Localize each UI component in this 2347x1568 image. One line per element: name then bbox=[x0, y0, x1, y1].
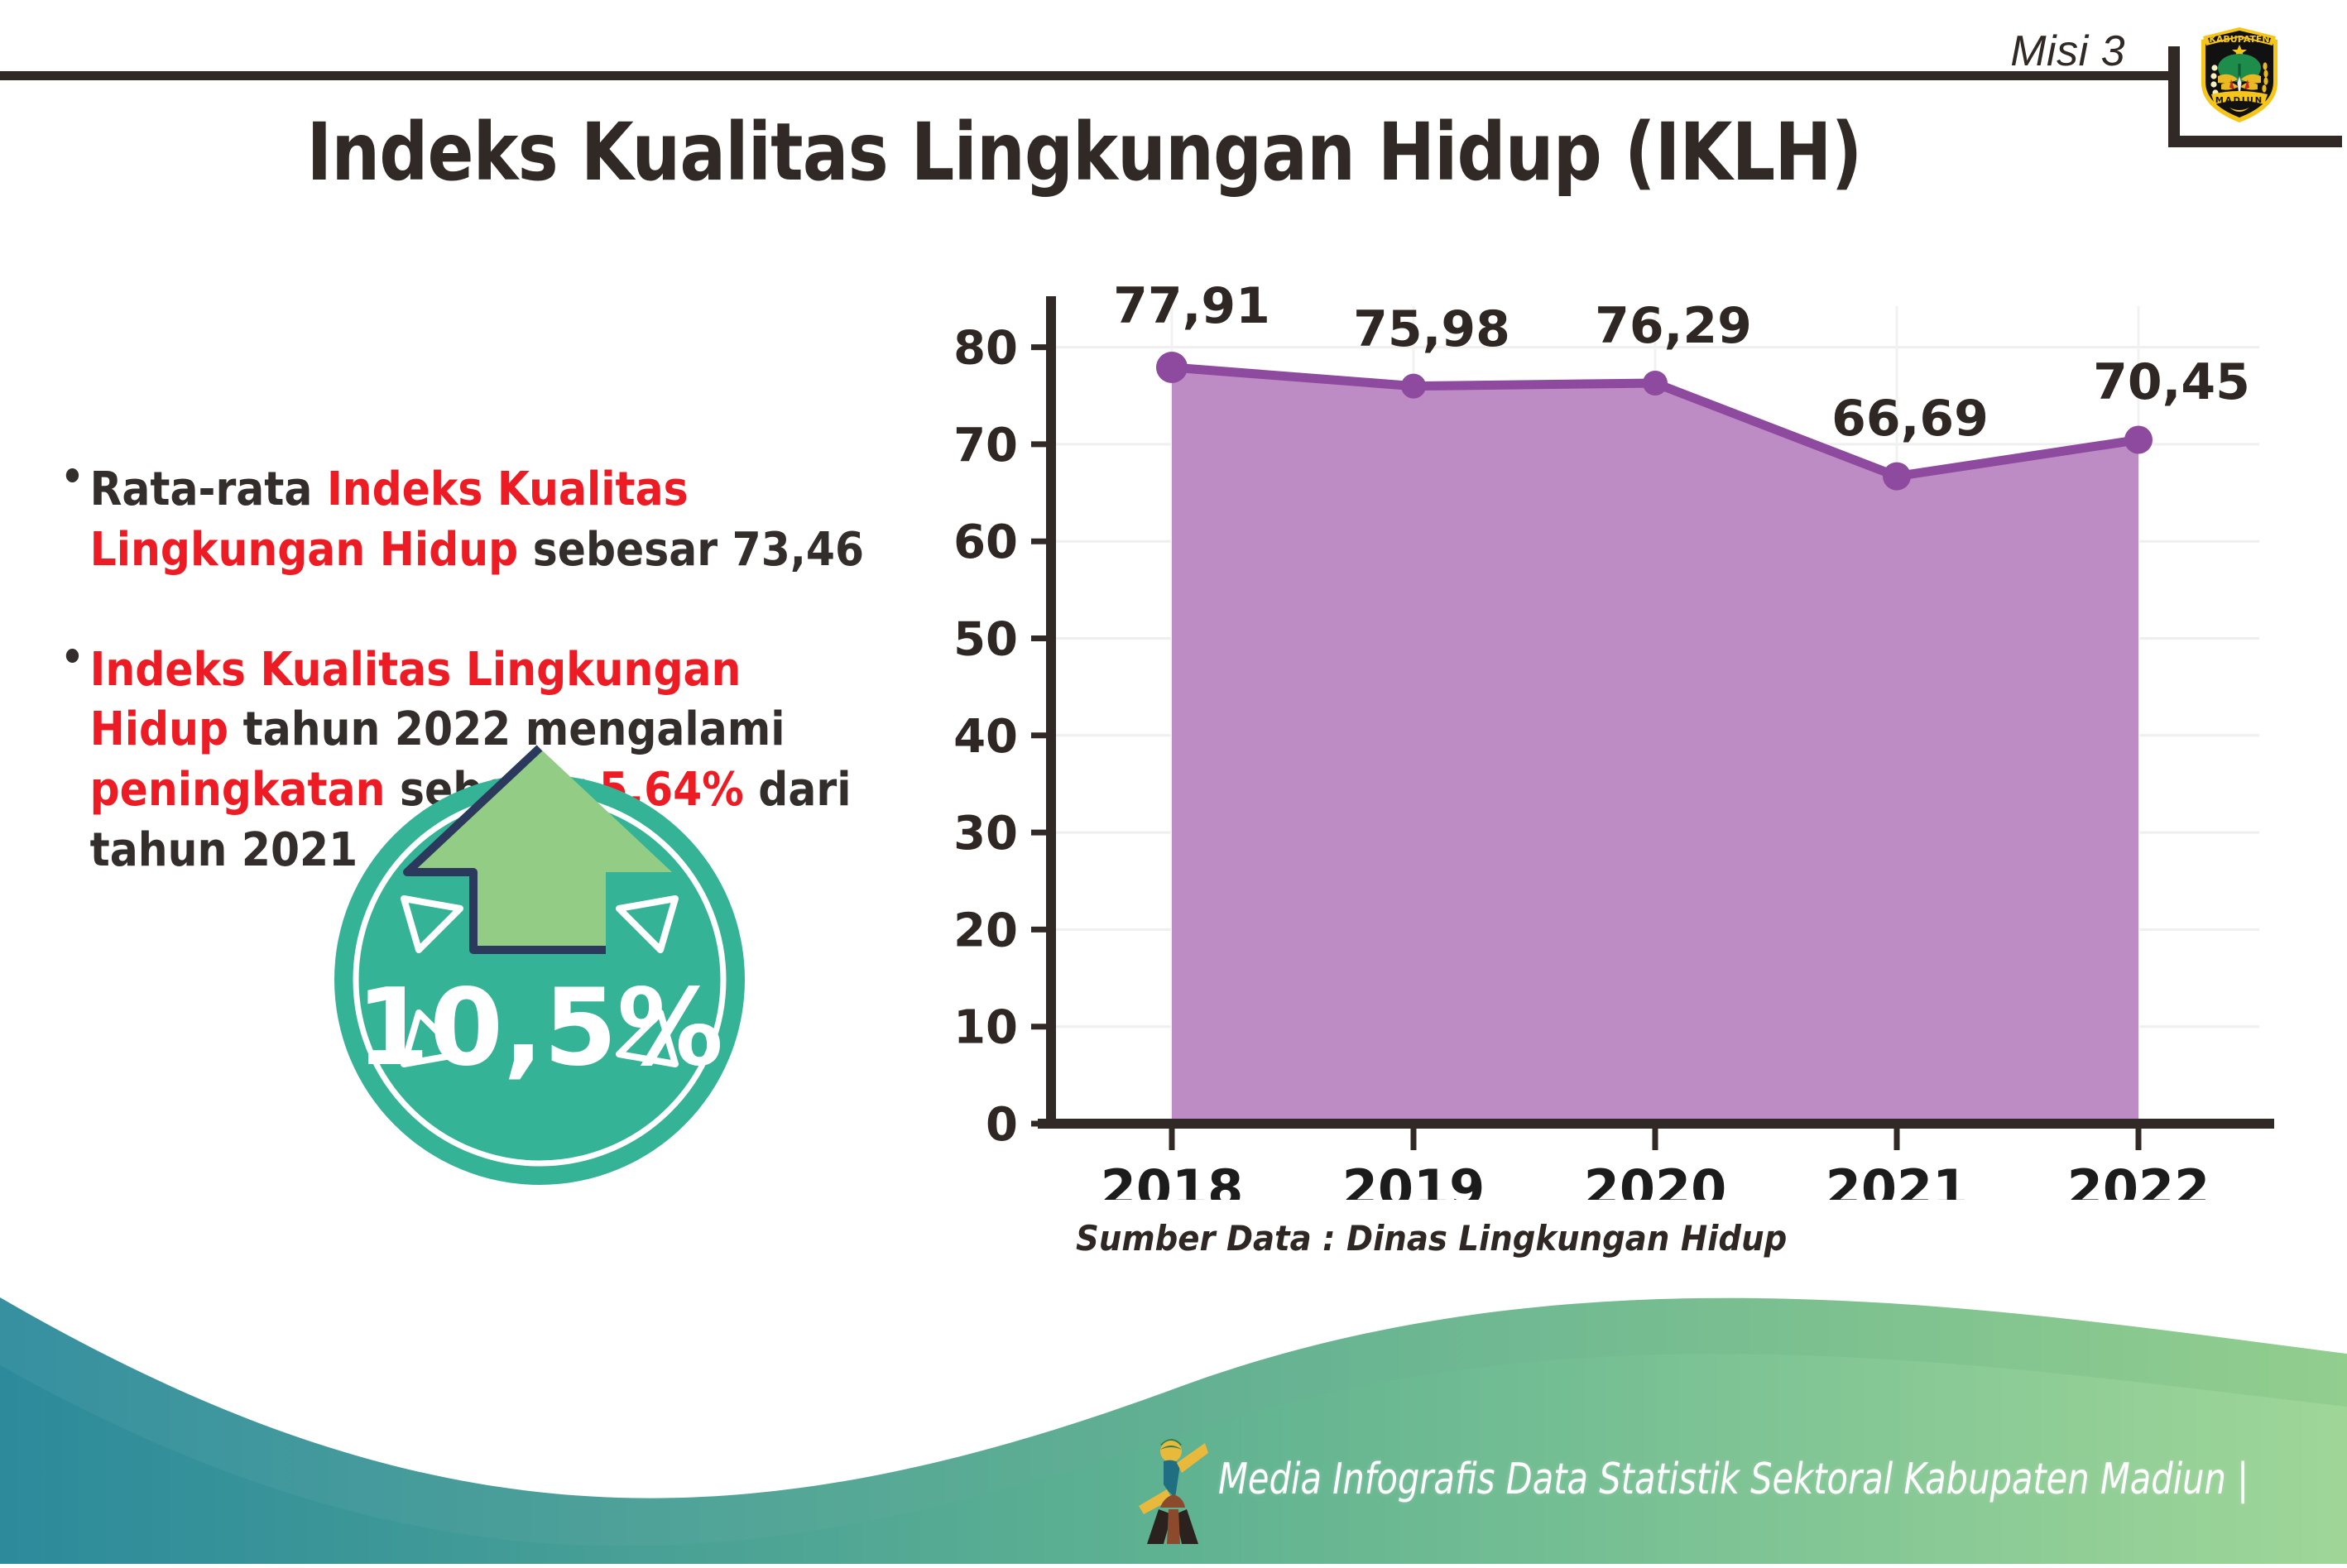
x-tick-label: 2022 bbox=[2067, 1158, 2210, 1200]
bullet-dot bbox=[66, 468, 79, 482]
x-tick-label: 2021 bbox=[1826, 1158, 1969, 1200]
svg-text:KABUPATEN: KABUPATEN bbox=[2209, 34, 2269, 45]
increase-badge: 10,5% bbox=[313, 733, 766, 1187]
point-label: 70,45 bbox=[2093, 353, 2250, 411]
bullet-segment: sebesar 73,46 bbox=[518, 523, 864, 577]
kabupaten-madiun-emblem-icon: KABUPATEN MADIUN bbox=[2193, 18, 2286, 127]
point-label: 75,98 bbox=[1353, 300, 1510, 358]
bullet-dot bbox=[66, 649, 79, 663]
mission-label: Misi 3 bbox=[2010, 26, 2125, 76]
bullet-segment: Rata-rata bbox=[90, 463, 327, 516]
footer-caption: Media Infografis Data Statistik Sektoral… bbox=[1218, 1455, 2249, 1504]
badge-value: 10,5% bbox=[356, 966, 723, 1090]
y-tick-label: 80 bbox=[953, 322, 1018, 376]
point-label: 77,91 bbox=[1113, 277, 1270, 335]
point-label: 76,29 bbox=[1595, 297, 1752, 355]
media-infografis-logo-icon bbox=[1135, 1427, 1212, 1549]
header-bracket-foot bbox=[2168, 136, 2342, 147]
y-tick-label: 60 bbox=[953, 515, 1018, 569]
header-rule bbox=[0, 71, 2168, 80]
iklh-area-chart: 77,91 75,98 76,29 66,69 70,45 0 10 20 30… bbox=[952, 273, 2292, 1200]
y-tick-label: 40 bbox=[953, 710, 1018, 764]
x-tick-label: 2018 bbox=[1101, 1158, 1244, 1200]
svg-text:MADIUN: MADIUN bbox=[2215, 96, 2263, 105]
page-title: Indeks Kualitas Lingkungan Hidup (IKLH) bbox=[151, 106, 2016, 199]
series-area-fill bbox=[1172, 367, 2138, 1124]
y-tick-label: 0 bbox=[986, 1098, 1018, 1152]
point-label: 66,69 bbox=[1831, 390, 1989, 448]
y-tick-label: 70 bbox=[953, 419, 1018, 472]
y-tick-label: 50 bbox=[953, 613, 1018, 667]
y-tick-label: 10 bbox=[953, 1001, 1018, 1055]
list-item: Rata-rata Indeks Kualitas Lingkungan Hid… bbox=[65, 460, 891, 581]
y-tick-label: 30 bbox=[953, 807, 1018, 861]
x-tick-label: 2020 bbox=[1584, 1158, 1727, 1200]
x-tick-label: 2019 bbox=[1342, 1158, 1485, 1200]
chart-source-note: Sumber Data : Dinas Lingkungan Hidup bbox=[1076, 1218, 1787, 1259]
y-tick-label: 20 bbox=[953, 904, 1018, 957]
header-bracket-vertical bbox=[2168, 46, 2180, 147]
